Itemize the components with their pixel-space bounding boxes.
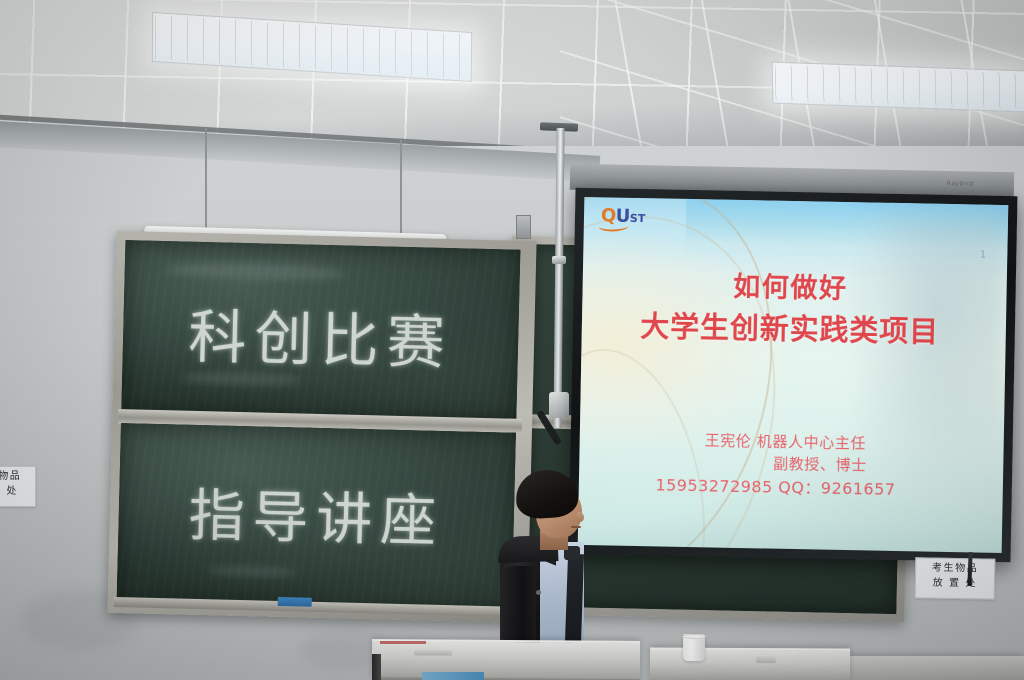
logo-letters-st: ST — [630, 212, 646, 225]
blackboard-panel-bottom: 指导讲座 — [117, 423, 516, 614]
desk-object — [414, 649, 452, 655]
slide-title-line1: 如何做好 — [733, 271, 848, 304]
blackboard: 科创比赛 指导讲座 — [107, 231, 536, 623]
interactive-whiteboard-frame[interactable]: QUST 1 如何做好 大学生创新实践类项目 王宪伦 机器人中心主任 副教授、博… — [569, 188, 1018, 562]
projected-slide: QUST 1 如何做好 大学生创新实践类项目 王宪伦 机器人中心主任 副教授、博… — [578, 197, 1009, 553]
slide-title: 如何做好 大学生创新实践类项目 — [582, 267, 999, 353]
desk-left-side-panel — [372, 654, 381, 680]
sign-line2: 放 置 处 — [916, 576, 994, 592]
blackboard-text-top: 科创比赛 — [122, 288, 519, 382]
blackboard-panel-top: 科创比赛 — [121, 240, 520, 422]
wall-junction-box — [516, 215, 531, 239]
presenter-hair — [515, 468, 579, 519]
lamp-hanging-wire-right — [400, 140, 402, 245]
slide-title-line2: 大学生创新实践类项目 — [582, 306, 998, 352]
blackboard-text-bottom: 指导讲座 — [118, 469, 515, 560]
sign-line1: 考生物品 — [916, 561, 994, 577]
presenter-jacket-button — [536, 590, 541, 595]
sign-examinee-belongings-left: 生物品 置 处 — [0, 466, 36, 507]
chalk-dust — [165, 261, 345, 281]
blue-paper-stack — [422, 672, 484, 680]
classroom-scene: 科创比赛 指导讲座 Raybird QUST — [0, 0, 1024, 680]
screen-brand-label: Raybird — [947, 180, 974, 188]
front-desk-left — [372, 639, 640, 680]
blue-chalk-eraser-icon[interactable] — [278, 597, 312, 607]
slide-number: 1 — [980, 250, 987, 261]
pole-joint — [552, 256, 566, 264]
presenter-nose — [576, 512, 584, 522]
blackboard-frame: 科创比赛 指导讲座 — [107, 231, 536, 623]
front-desk-right — [650, 647, 850, 680]
paper-cup[interactable] — [683, 634, 705, 661]
desk-object — [756, 656, 776, 663]
projector-mount-head — [549, 392, 569, 418]
slide-presenter-info: 王宪伦 机器人中心主任 副教授、博士 15953272985 QQ：926165… — [579, 427, 992, 504]
desk-red-edge-marking — [380, 641, 426, 644]
ceiling-light-panel-right — [772, 62, 1024, 113]
sign-line1: 生物品 — [0, 470, 35, 485]
chalk-dust — [207, 565, 297, 577]
presenter-mouth — [571, 526, 581, 528]
chalk-dust — [182, 372, 302, 387]
lamp-hanging-wire-left — [205, 128, 207, 243]
front-desk-far-right — [838, 656, 1024, 680]
sign-line2: 置 处 — [0, 485, 35, 500]
sign-examinee-belongings-right: 考生物品 放 置 处 — [915, 557, 996, 599]
qust-logo-icon: QUST — [601, 208, 646, 227]
